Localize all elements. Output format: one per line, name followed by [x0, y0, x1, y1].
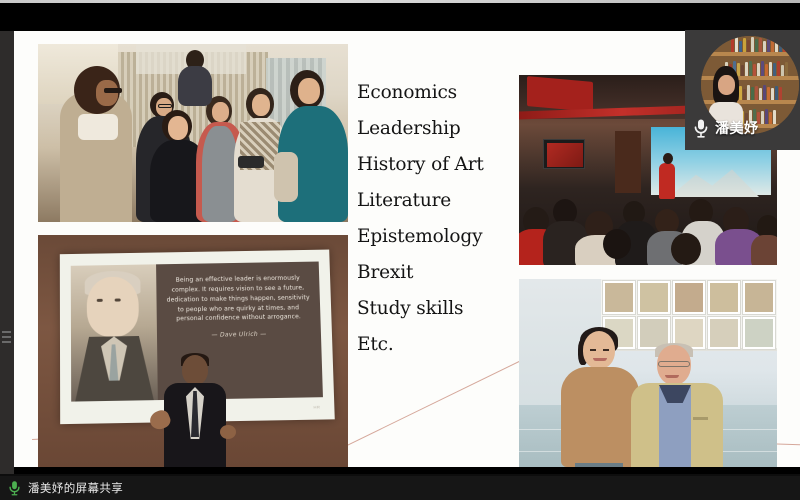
photo-portrait-pair: [519, 279, 777, 474]
subject-item: History of Art: [357, 156, 517, 175]
left-gutter: [0, 31, 14, 485]
participant-label: 潘美妤: [693, 118, 759, 138]
photo-lecture: Being an effective leader is enormously …: [38, 235, 348, 467]
subject-item: Brexit: [357, 264, 517, 283]
microphone-icon[interactable]: [693, 118, 709, 138]
subject-item: Literature: [357, 192, 517, 211]
subject-item: Economics: [357, 84, 517, 103]
photo-group-hall: [38, 44, 348, 222]
subject-item: Etc.: [357, 336, 517, 355]
subject-item: Epistemology: [357, 228, 517, 247]
subject-item: Leadership: [357, 120, 517, 139]
participant-name: 潘美妤: [715, 118, 759, 138]
lecture-slide-corner-mark: HR: [314, 404, 321, 409]
letterbox-top-bar: [0, 3, 800, 31]
microphone-icon[interactable]: [8, 480, 21, 496]
participant-video-tile[interactable]: 潘美妤: [685, 30, 800, 150]
lecture-quote-text: Being an effective leader is enormously …: [166, 273, 310, 324]
gutter-marks-icon: [2, 331, 11, 345]
screen-share-view: Being an effective leader is enormously …: [0, 0, 800, 500]
shared-slide: Being an effective leader is enormously …: [14, 31, 800, 474]
screen-share-status-bar: 潘美妤的屏幕共享: [0, 476, 800, 500]
lecture-quote-attribution: — Dave Ulrich —: [167, 329, 311, 341]
screen-share-label: 潘美妤的屏幕共享: [28, 480, 123, 496]
subject-list: Economics Leadership History of Art Lite…: [357, 84, 517, 372]
subject-item: Study skills: [357, 300, 517, 319]
